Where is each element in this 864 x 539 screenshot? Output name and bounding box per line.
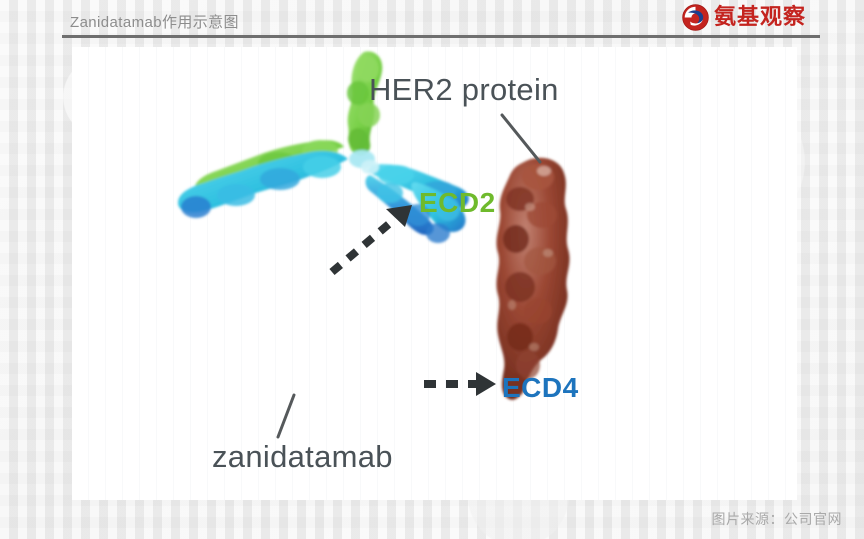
diagram-graphics bbox=[72, 47, 797, 500]
ecd2-dashed-arrow bbox=[332, 205, 412, 272]
ecd4-dashed-arrow bbox=[424, 372, 496, 396]
ecd4-label: ECD4 bbox=[502, 372, 579, 404]
her2-protein-label: HER2 protein bbox=[369, 72, 559, 108]
zanidatamab-label: zanidatamab bbox=[212, 439, 393, 475]
brand-logo: 氨基观察 bbox=[682, 4, 806, 31]
image-source-note: 图片来源：公司官网 bbox=[712, 509, 843, 529]
her2-leader-line bbox=[502, 115, 540, 162]
brand-name: 氨基观察 bbox=[714, 4, 806, 31]
figure-panel: HER2 protein ECD2 ECD4 zanidatamab bbox=[72, 47, 797, 500]
circular-swoosh-logo-icon bbox=[682, 4, 709, 31]
header-divider bbox=[62, 35, 820, 38]
her2-protein-structure bbox=[496, 158, 569, 400]
ecd2-label: ECD2 bbox=[419, 187, 496, 219]
page-title: Zanidatamab作用示意图 bbox=[70, 11, 239, 32]
zanidatamab-leader-line bbox=[278, 395, 294, 437]
slide-canvas: Zanidatamab作用示意图 氨基观察 bbox=[0, 0, 864, 539]
